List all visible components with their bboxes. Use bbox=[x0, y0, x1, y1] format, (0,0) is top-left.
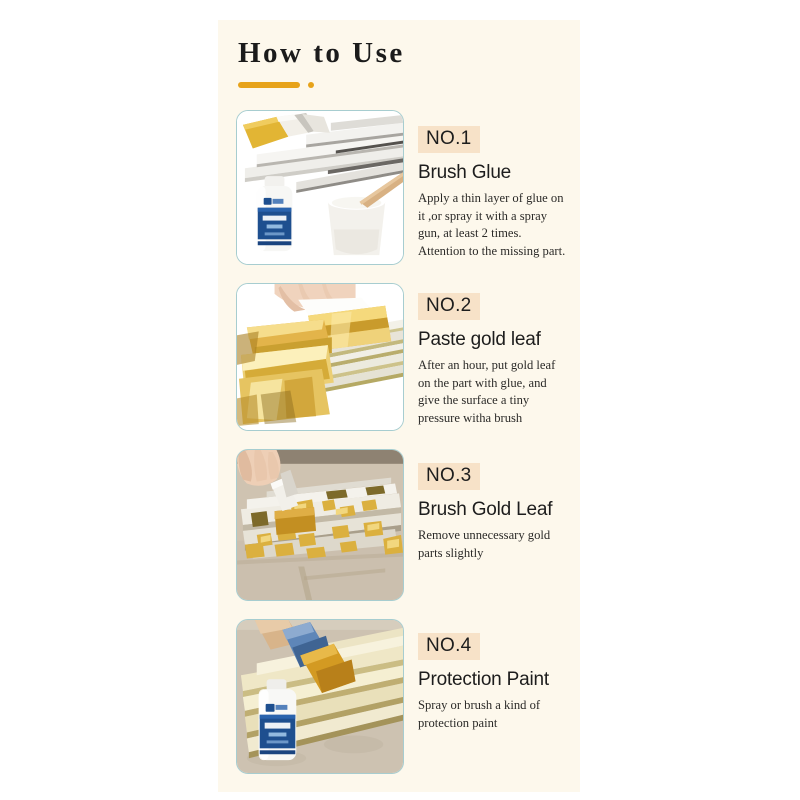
step-4-body: Spray or brush a kind of protection pain… bbox=[418, 697, 566, 733]
step-1-photo bbox=[236, 110, 404, 265]
step-item: NO.4 Protection Paint Spray or brush a k… bbox=[218, 619, 580, 774]
step-3-badge: NO.3 bbox=[418, 463, 480, 490]
step-2-photo bbox=[236, 283, 404, 431]
step-4-photo bbox=[236, 619, 404, 774]
step-4-badge: NO.4 bbox=[418, 633, 480, 660]
step-2-text: NO.2 Paste gold leaf After an hour, put … bbox=[404, 283, 580, 428]
hand-holding-gold-leaf-sheets-icon bbox=[237, 284, 403, 430]
step-3-text: NO.3 Brush Gold Leaf Remove unnecessary … bbox=[404, 449, 580, 562]
title-accent bbox=[238, 82, 558, 88]
step-1-text: NO.1 Brush Glue Apply a thin layer of gl… bbox=[404, 110, 580, 261]
step-2-badge: NO.2 bbox=[418, 293, 480, 320]
step-1-body: Apply a thin layer of glue on it ,or spr… bbox=[418, 190, 566, 262]
step-item: NO.3 Brush Gold Leaf Remove unnecessary … bbox=[218, 449, 580, 601]
brush-applying-protection-paint-icon bbox=[237, 620, 403, 773]
step-3-photo bbox=[236, 449, 404, 601]
page-title: How to Use bbox=[238, 38, 558, 70]
step-3-body: Remove unnecessary gold parts slightly bbox=[418, 527, 566, 563]
accent-dot bbox=[308, 82, 314, 88]
step-1-badge: NO.1 bbox=[418, 126, 480, 153]
steps-list: NO.1 Brush Glue Apply a thin layer of gl… bbox=[218, 110, 580, 792]
step-3-heading: Brush Gold Leaf bbox=[418, 499, 572, 521]
step-4-text: NO.4 Protection Paint Spray or brush a k… bbox=[404, 619, 580, 732]
header: How to Use bbox=[238, 38, 558, 88]
step-1-heading: Brush Glue bbox=[418, 162, 572, 184]
paint-brush-with-glue-bottle-and-cup-icon bbox=[237, 111, 403, 264]
page-root: How to Use bbox=[0, 0, 800, 800]
step-2-body: After an hour, put gold leaf on the part… bbox=[418, 357, 566, 429]
accent-bar bbox=[238, 82, 300, 88]
hand-brushing-excess-gold-leaf-icon bbox=[237, 450, 403, 600]
step-item: NO.2 Paste gold leaf After an hour, put … bbox=[218, 283, 580, 431]
step-2-heading: Paste gold leaf bbox=[418, 329, 572, 351]
step-item: NO.1 Brush Glue Apply a thin layer of gl… bbox=[218, 110, 580, 265]
step-4-heading: Protection Paint bbox=[418, 669, 572, 691]
content-panel: How to Use bbox=[218, 20, 580, 792]
